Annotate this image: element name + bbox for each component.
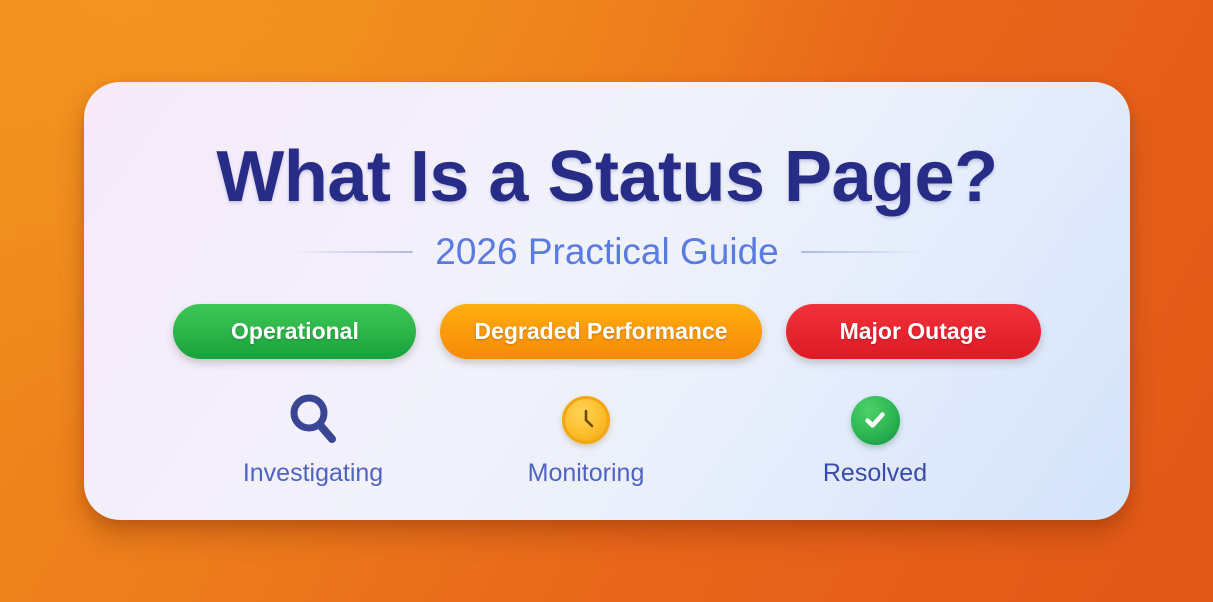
timeline-step-label: Investigating xyxy=(243,458,383,488)
timeline-step-monitoring[interactable]: Monitoring xyxy=(496,382,676,488)
status-badge-operational[interactable]: Operational xyxy=(173,304,416,359)
check-circle-icon xyxy=(851,382,900,458)
page-subtitle: 2026 Practical Guide xyxy=(435,230,778,274)
subtitle-rule-right xyxy=(801,251,921,253)
page-title: What Is a Status Page? xyxy=(84,134,1130,220)
timeline-step-resolved[interactable]: Resolved xyxy=(785,382,965,488)
incident-timeline: Investigating Monitoring xyxy=(84,382,1130,502)
status-badge-major-outage[interactable]: Major Outage xyxy=(786,304,1041,359)
status-badge-label: Operational xyxy=(231,318,359,345)
status-badges: Operational Degraded Performance Major O… xyxy=(84,304,1130,359)
timeline-step-investigating[interactable]: Investigating xyxy=(223,382,403,488)
status-page-card: What Is a Status Page? 2026 Practical Gu… xyxy=(84,82,1130,520)
status-badge-degraded[interactable]: Degraded Performance xyxy=(440,304,761,359)
timeline-step-label: Monitoring xyxy=(528,458,645,488)
status-badge-label: Degraded Performance xyxy=(474,318,727,345)
status-badge-label: Major Outage xyxy=(840,318,987,345)
clock-icon xyxy=(562,382,610,458)
magnifier-icon xyxy=(285,382,341,458)
timeline-step-label: Resolved xyxy=(823,458,927,488)
subtitle-rule-left xyxy=(293,251,413,253)
subtitle-row: 2026 Practical Guide xyxy=(84,230,1130,274)
